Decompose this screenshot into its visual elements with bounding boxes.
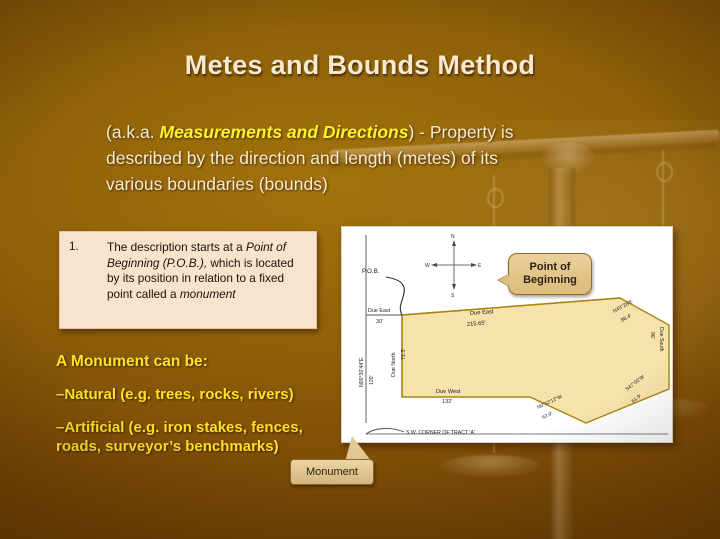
- svg-text:S: S: [451, 293, 455, 299]
- monument-bullet-list: A Monument can be: –Natural (e.g. trees,…: [56, 352, 321, 457]
- slide-subtitle: (a.k.a. Measurements and Directions) - P…: [106, 119, 536, 197]
- slide-title: Metes and Bounds Method: [0, 50, 720, 81]
- callout-seg-1: The description starts at a: [107, 240, 246, 254]
- tract-a-label: S.W. CORNER OF TRACT 'A': [406, 430, 475, 436]
- callout-list-number: 1.: [69, 240, 107, 328]
- callout-seg-4-italic: monument: [180, 287, 236, 301]
- call-due-south-bearing: Due South: [658, 327, 664, 352]
- svg-text:E: E: [478, 263, 482, 269]
- call-nw-leg-distance: 62.9': [541, 411, 553, 421]
- call-north-leg-bearing: N00°30'44"E: [359, 357, 365, 387]
- survey-plat-svg: P.O.B. N S W E S.W. CORNER OF TRACT 'A' …: [342, 227, 672, 442]
- pob-callout-tail-icon: [498, 274, 510, 287]
- call-due-west-bearing: Due West: [436, 389, 461, 395]
- call-north-leg-distance: 120': [369, 375, 375, 385]
- survey-plat-panel: P.O.B. N S W E S.W. CORNER OF TRACT 'A' …: [341, 226, 673, 443]
- svg-text:W: W: [425, 263, 430, 269]
- call-tie-east-distance: 30': [376, 319, 383, 325]
- bullet-item-natural: –Natural (e.g. trees, rocks, rivers): [56, 385, 321, 405]
- svg-text:N: N: [451, 234, 455, 240]
- bullet-heading: A Monument can be:: [56, 352, 321, 372]
- callout-body-text: The description starts at a Point of Beg…: [107, 240, 307, 328]
- balance-pan-left-icon: [441, 455, 541, 477]
- call-due-north-bearing: Due North: [391, 352, 397, 377]
- pob-callout-label: Point of Beginning: [509, 261, 591, 287]
- numbered-callout-box: 1. The description starts at a Point of …: [59, 231, 317, 329]
- balance-hub-icon: [540, 142, 596, 176]
- pob-label: P.O.B.: [362, 268, 380, 275]
- point-of-beginning-callout: Point of Beginning: [508, 253, 592, 295]
- call-due-west-distance: 132': [442, 399, 452, 405]
- subtitle-emphasis: Measurements and Directions: [160, 122, 409, 142]
- call-due-south-distance: 96': [649, 332, 655, 339]
- subtitle-pre: (a.k.a.: [106, 122, 160, 142]
- call-due-north-distance: 71.3': [401, 348, 407, 360]
- slide-canvas: Metes and Bounds Method (a.k.a. Measurem…: [0, 0, 720, 539]
- monument-callout: Monument: [290, 459, 374, 485]
- balance-ring-right-icon: [656, 162, 673, 182]
- call-tie-east-bearing: Due East: [368, 308, 391, 314]
- monument-callout-label: Monument: [306, 466, 358, 478]
- tract-a-leader: [366, 428, 404, 434]
- compass-rose-icon: N S W E: [425, 234, 482, 299]
- bullet-item-artificial: –Artificial (e.g. iron stakes, fences, r…: [56, 418, 321, 457]
